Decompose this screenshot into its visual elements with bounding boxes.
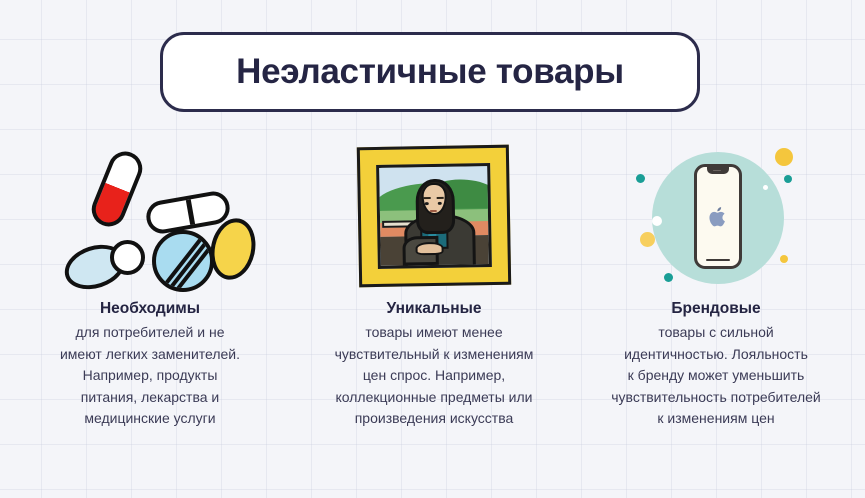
content-column-necessary: Необходимы для потребителей и не имеют л… [6,140,294,430]
picture-frame-icon [357,145,511,288]
phone-notch [707,167,729,174]
body-line: чувствительный к изменениям [304,344,564,366]
red-white-capsule-icon [87,146,148,231]
body-line: произведения искусства [304,408,564,430]
slide-canvas: Неэластичные товары Необходимы для потре… [0,0,865,498]
figure-eyebrow [437,197,444,199]
decorative-white-dot [763,185,768,190]
mona-lisa-illustration [358,146,510,286]
body-line: коллекционные предметы или [304,387,564,409]
body-line: цен спрос. Например, [304,365,564,387]
title-box: Неэластичные товары [160,32,700,112]
column-body: товары с сильной идентичностью. Лояльнос… [572,322,860,430]
decorative-yellow-dot [775,148,793,166]
body-line: медицинские услуги [20,408,280,430]
phone-frame [694,164,742,269]
body-line: питания, лекарства и [20,387,280,409]
body-line: к изменениям цен [586,408,846,430]
illustration-slot [6,140,294,300]
page-title: Неэластичные товары [236,52,624,92]
body-line: Например, продукты [20,365,280,387]
decorative-teal-dot [636,174,645,183]
body-line: к бренду может уменьшить [586,365,846,387]
blue-round-pill-icon [152,230,214,292]
decorative-yellow-dot [640,232,655,247]
content-column-branded: Брендовые товары с сильной идентичностью… [572,140,860,430]
column-heading: Уникальные [290,300,578,318]
content-column-unique: Уникальные товары имеют менее чувствител… [290,140,578,430]
smartphone-illustration [612,140,822,296]
decorative-teal-dot [784,175,792,183]
decorative-teal-dot [664,273,673,282]
home-indicator [706,259,730,262]
body-line: товары с сильной [586,322,846,344]
body-line: товары имеют менее [304,322,564,344]
body-line: имеют легких заменителей. [20,344,280,366]
apple-logo-icon [708,205,728,229]
figure-mouth [430,210,437,212]
decorative-white-dot [652,216,662,226]
column-heading: Брендовые [572,300,860,318]
illustration-slot [572,140,860,300]
figure-hands [415,242,443,255]
column-body: для потребителей и не имеют легких замен… [6,322,294,430]
illustration-slot [290,140,578,300]
column-heading: Необходимы [6,300,294,318]
small-white-pill-icon [110,240,145,275]
decorative-yellow-dot [780,255,788,263]
figure-eyebrow [424,197,431,199]
body-line: идентичностью. Лояльность [586,344,846,366]
painting-canvas [376,163,492,269]
body-line: для потребителей и не [20,322,280,344]
column-body: товары имеют менее чувствительный к изме… [290,322,578,430]
body-line: чувствительность потребителей [586,387,846,409]
pills-illustration [48,148,258,288]
